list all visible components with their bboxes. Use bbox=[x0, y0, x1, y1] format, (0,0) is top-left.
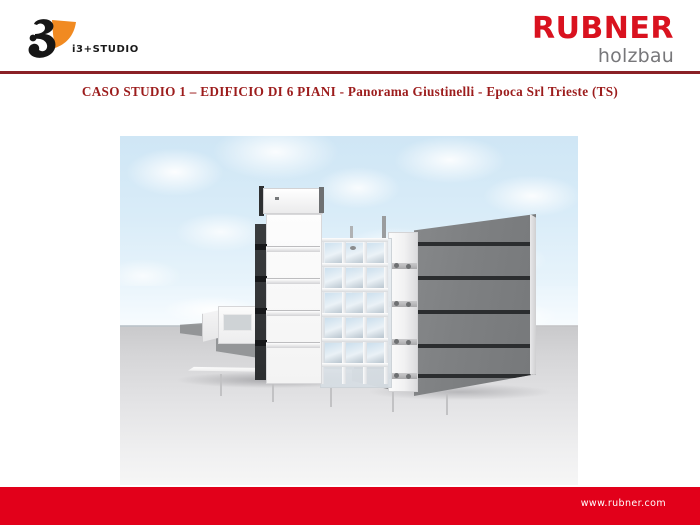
render-white-panel-tower bbox=[255, 214, 321, 384]
render-connector-column bbox=[388, 232, 418, 392]
rubner-wordmark: RUBNER bbox=[532, 14, 674, 44]
architectural-render-image bbox=[120, 136, 578, 485]
render-gray-panel-wall bbox=[414, 214, 536, 396]
i3-studio-mark-icon bbox=[24, 18, 82, 62]
render-building-scene bbox=[120, 136, 578, 485]
footer-website-url[interactable]: www.rubner.com bbox=[581, 498, 666, 509]
i3-studio-logo: i3+STUDIO bbox=[24, 18, 154, 64]
rubner-holzbau-logo: RUBNER holzbau bbox=[532, 14, 674, 67]
header-divider bbox=[0, 71, 700, 74]
slide-root: i3+STUDIO RUBNER holzbau CASO STUDIO 1 –… bbox=[0, 0, 700, 525]
i3-studio-label: i3+STUDIO bbox=[72, 44, 139, 55]
page-title: CASO STUDIO 1 – EDIFICIO DI 6 PIANI - Pa… bbox=[0, 84, 700, 100]
slide-header: i3+STUDIO RUBNER holzbau bbox=[0, 0, 700, 72]
slide-footer: www.rubner.com bbox=[0, 487, 700, 525]
render-glass-frame-building bbox=[320, 238, 390, 388]
tower-roof-cap bbox=[257, 186, 327, 216]
rubner-subtitle: holzbau bbox=[532, 46, 674, 67]
